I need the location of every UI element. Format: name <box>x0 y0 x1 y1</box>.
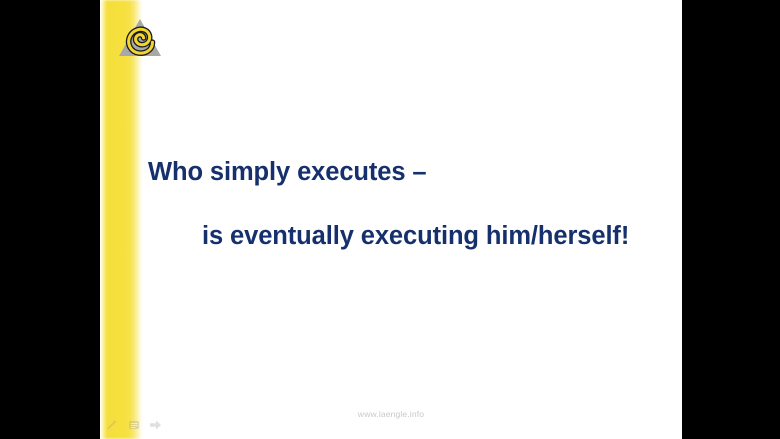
pen-icon[interactable] <box>106 418 119 431</box>
slide-canvas: Who simply executes – is eventually exec… <box>100 0 682 439</box>
quote-line-1: Who simply executes – <box>148 158 427 187</box>
next-arrow-icon[interactable] <box>149 419 162 431</box>
quote-block: Who simply executes – is eventually exec… <box>100 0 682 439</box>
presentation-viewport: Who simply executes – is eventually exec… <box>0 0 780 439</box>
slide-menu-icon[interactable] <box>128 419 140 431</box>
presentation-controls[interactable] <box>106 418 162 431</box>
quote-line-2: is eventually executing him/herself! <box>202 222 629 251</box>
footer-url: www.laengle.info <box>100 409 682 419</box>
